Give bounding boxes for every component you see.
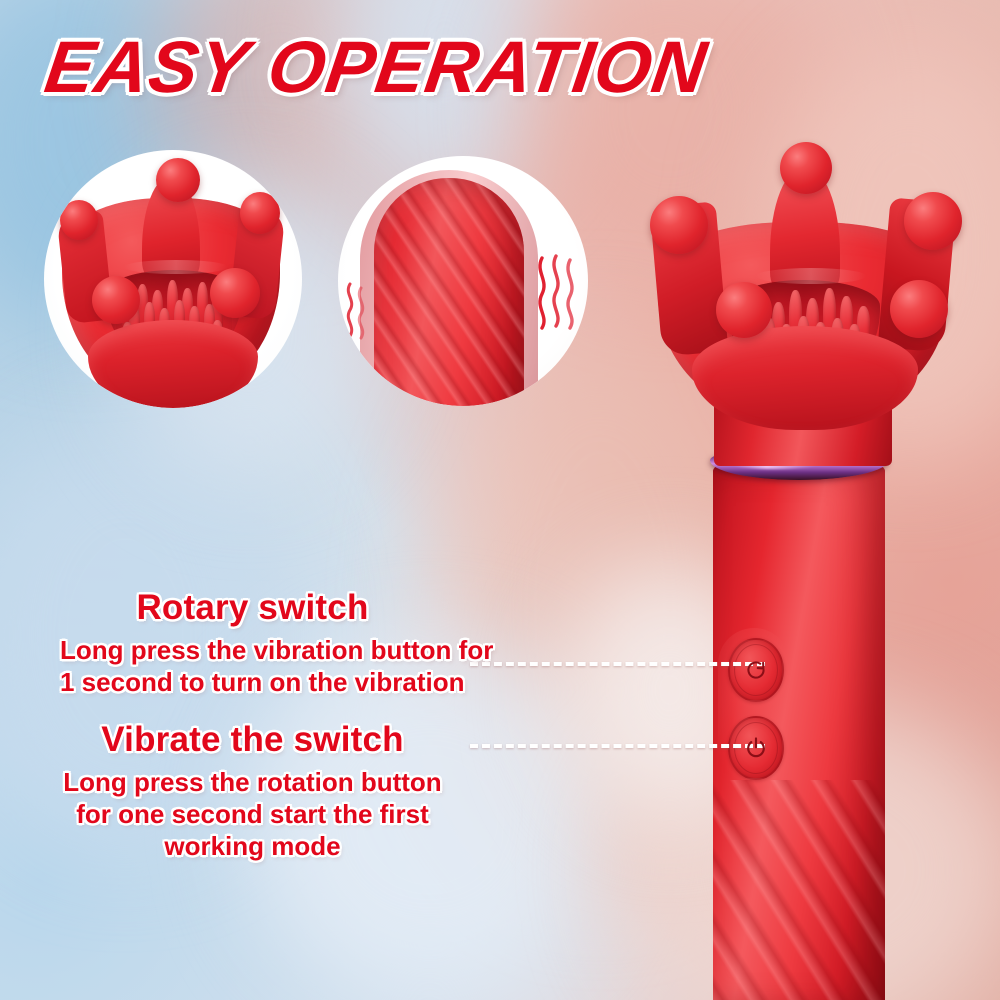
prong-ball-top-right (904, 192, 962, 250)
vibration-wave-icon (534, 252, 582, 334)
vibration-wave-icon (342, 278, 372, 342)
callout-line: working mode (60, 830, 445, 862)
callout-rotary-switch: Rotary switch Long press the vibration b… (60, 588, 445, 698)
callout-line: 1 second to turn on the vibration (60, 666, 445, 698)
page-title: EASY OPERATION (40, 26, 712, 109)
crown-surface-ridge (756, 268, 866, 284)
rotate-icon (743, 657, 769, 683)
callout-title-vibrate: Vibrate the switch (60, 720, 445, 760)
callout-vibrate-switch: Vibrate the switch Long press the rotati… (60, 720, 445, 862)
prong-ball-front-right (890, 280, 948, 338)
product-image (600, 130, 1000, 1000)
callout-title-rotary: Rotary switch (60, 588, 445, 628)
inset-crown-head-closeup (44, 150, 302, 408)
inset-clip (44, 150, 302, 408)
callout-connector-line-vibrate (470, 744, 765, 748)
prong-ball-top-center (156, 158, 200, 202)
prong-ball-front-right (210, 268, 260, 318)
prong-ball-front-left (716, 282, 772, 338)
callout-line: for one second start the first (60, 798, 445, 830)
prong-ball-top-left (650, 196, 708, 254)
callout-line: Long press the vibration button for (60, 634, 445, 666)
product-crown-head (618, 130, 988, 480)
prong-ball-top-left (60, 200, 98, 240)
spiral-rib-texture (713, 780, 885, 1000)
callout-line: Long press the rotation button (60, 766, 445, 798)
spiral-rib-texture (374, 178, 524, 406)
product-feature-graphic: EASY OPERATION (0, 0, 1000, 1000)
prong-ball-top-right (240, 192, 280, 234)
power-icon (743, 735, 769, 761)
crown-surface-ridge (124, 260, 228, 274)
power-button[interactable] (728, 716, 784, 780)
inset-ribbed-shaft-closeup (338, 156, 588, 406)
prong-ball-top-center (780, 142, 832, 194)
inset-clip (338, 156, 588, 406)
ribbed-shaft (374, 178, 524, 406)
rotation-button[interactable] (728, 638, 784, 702)
prong-ball-front-left (92, 276, 140, 324)
crown-front-lip (88, 320, 258, 408)
callout-connector-line-rotary (470, 662, 765, 666)
